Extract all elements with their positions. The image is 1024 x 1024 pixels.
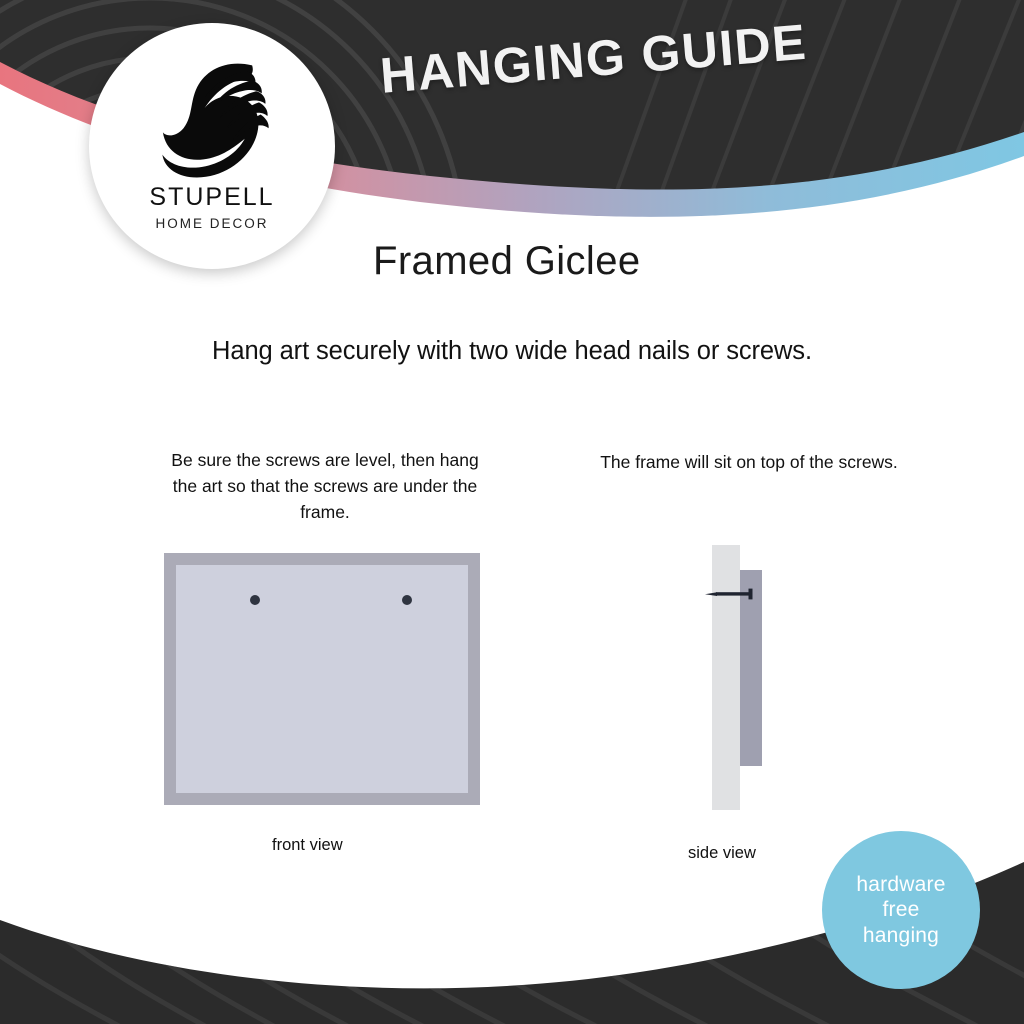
brand-tagline: HOME DECOR xyxy=(155,217,268,231)
product-name: Framed Giclee xyxy=(373,239,641,284)
front-view-label: front view xyxy=(272,836,343,855)
badge-line-3: hanging xyxy=(863,923,939,949)
brand-logo-badge: STUPELL HOME DECOR xyxy=(89,23,335,269)
screw-dot-right xyxy=(402,595,412,605)
hardware-free-badge: hardware free hanging xyxy=(822,831,980,989)
page-title: HANGING GUIDE xyxy=(378,13,809,105)
front-view-note: Be sure the screws are level, then hang … xyxy=(160,448,490,526)
side-view-diagram xyxy=(700,545,780,813)
stupell-swoosh-icon xyxy=(146,49,278,181)
screw-dot-left xyxy=(250,595,260,605)
nail-icon xyxy=(705,588,762,600)
side-view-note: The frame will sit on top of the screws. xyxy=(598,450,900,476)
front-view-artwork-area xyxy=(176,565,468,793)
side-view-label: side view xyxy=(688,844,756,863)
badge-line-2: free xyxy=(883,897,920,923)
front-view-diagram xyxy=(164,553,480,805)
brand-name: STUPELL xyxy=(149,185,274,210)
main-instruction: Hang art securely with two wide head nai… xyxy=(0,337,1024,366)
hanging-guide-page: STUPELL HOME DECOR HANGING GUIDE Framed … xyxy=(0,0,1024,1024)
side-view-wall xyxy=(712,545,740,810)
badge-line-1: hardware xyxy=(856,872,945,898)
